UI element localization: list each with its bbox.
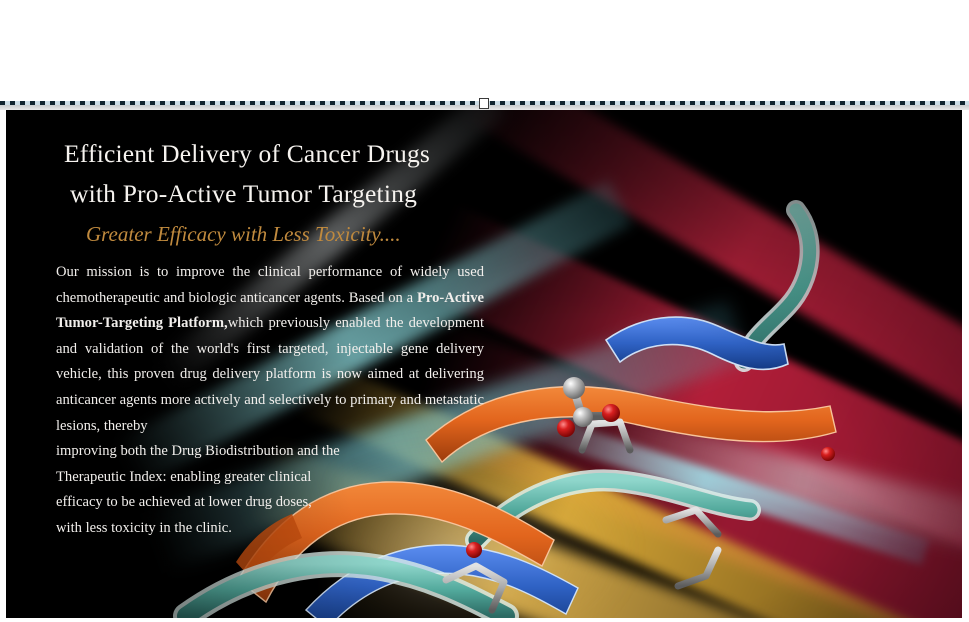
slide-body-line: Therapeutic Index: enabling greater clin… — [56, 465, 484, 491]
slide-title-line-1: Efficient Delivery of Cancer Drugs — [56, 134, 496, 174]
body-segment-2: which previously enabled the development… — [56, 315, 484, 433]
slide-body-line: improving both the Drug Biodistribution … — [56, 439, 484, 465]
slide-subtitle: Greater Efficacy with Less Toxicity.... — [56, 214, 496, 254]
slide-body-paragraph: Our mission is to improve the clinical p… — [56, 260, 484, 439]
slide-image[interactable]: Efficient Delivery of Cancer Drugs with … — [6, 110, 962, 618]
page-bottom-strip — [0, 618, 969, 622]
slide-body-line: with less toxicity in the clinic. — [56, 516, 484, 542]
ribbon-teal-upper — [744, 210, 810, 362]
slide-body-text: Our mission is to improve the clinical p… — [56, 260, 484, 542]
slide-text-block: Efficient Delivery of Cancer Drugs with … — [56, 134, 496, 542]
slide-body-line: efficacy to be achieved at lower drug do… — [56, 490, 484, 516]
top-center-resize-handle[interactable] — [479, 98, 489, 109]
slide-title-line-2: with Pro-Active Tumor Targeting — [56, 174, 496, 214]
